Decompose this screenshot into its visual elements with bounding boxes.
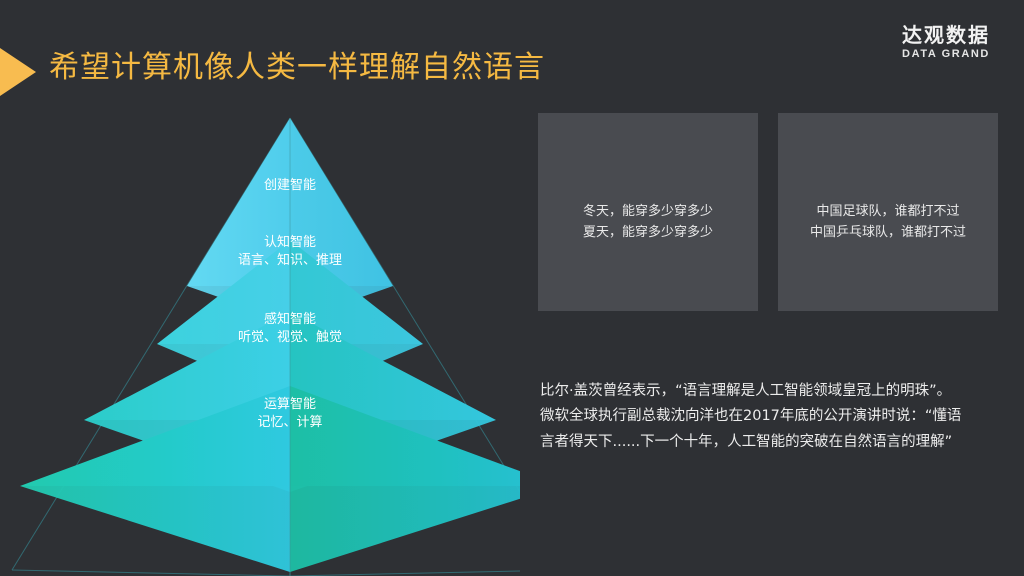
page-title: 希望计算机像人类一样理解自然语言 [49, 50, 545, 86]
slide-canvas: 希望计算机像人类一样理解自然语言 达观数据 DATA GRAND [0, 0, 1024, 576]
example-line: 夏天，能穿多少穿多少 [538, 222, 758, 243]
example-line: 中国足球队，谁都打不过 [778, 201, 998, 222]
pyramid-svg [0, 100, 520, 576]
quote-text-block: 比尔·盖茨曾经表示，“语言理解是人工智能领域皇冠上的明珠”。 微软全球执行副总裁… [540, 379, 1010, 455]
brand-logo: 达观数据 DATA GRAND [902, 25, 990, 60]
example-line: 中国乒乓球队，谁都打不过 [778, 222, 998, 243]
example-box-weather: 冬天，能穿多少穿多少 夏天，能穿多少穿多少 [538, 113, 758, 311]
title-arrow-icon [0, 48, 36, 96]
example-box-sports-text: 中国足球队，谁都打不过 中国乒乓球队，谁都打不过 [778, 201, 998, 244]
quote-line: 言者得天下......下一个十年，人工智能的突破在自然语言的理解” [540, 430, 1010, 455]
example-box-sports: 中国足球队，谁都打不过 中国乒乓球队，谁都打不过 [778, 113, 998, 311]
quote-line: 比尔·盖茨曾经表示，“语言理解是人工智能领域皇冠上的明珠”。 [540, 379, 1010, 404]
example-box-weather-text: 冬天，能穿多少穿多少 夏天，能穿多少穿多少 [538, 201, 758, 244]
example-line: 冬天，能穿多少穿多少 [538, 201, 758, 222]
quote-line: 微软全球执行副总裁沈向洋也在2017年底的公开演讲时说：“懂语 [540, 404, 1010, 429]
logo-chinese-text: 达观数据 [902, 25, 990, 45]
intelligence-pyramid-diagram: 创建智能 认知智能 语言、知识、推理 感知智能 听觉、视觉、触觉 运算智能 记忆… [0, 100, 520, 576]
logo-english-text: DATA GRAND [902, 49, 990, 60]
